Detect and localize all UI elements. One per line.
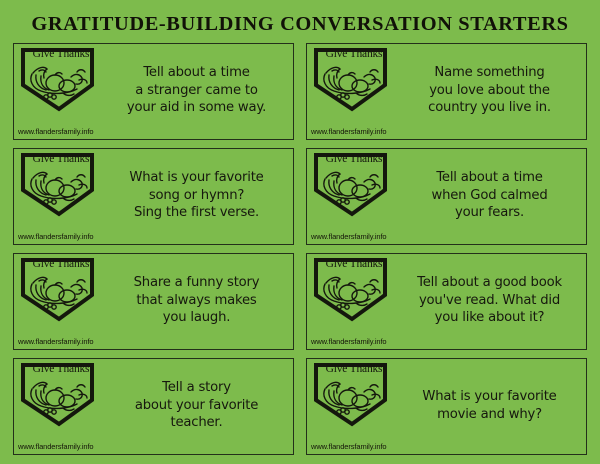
conversation-starter-card[interactable]: Give Thanks www.flandersfamily.info What… [13, 148, 294, 245]
card-prompt-text: Name something you love about the countr… [428, 64, 551, 117]
give-thanks-shield: Give Thanks [312, 47, 396, 113]
site-url: www.flandersfamily.info [311, 128, 397, 136]
card-logo: Give Thanks www.flandersfamily.info [14, 359, 106, 454]
card-body: Name something you love about the countr… [399, 44, 586, 139]
conversation-starter-card[interactable]: Give Thanks www.flandersfamily.info Tell… [306, 148, 587, 245]
site-url: www.flandersfamily.info [18, 128, 104, 136]
conversation-starter-card[interactable]: Give Thanks www.flandersfamily.info What… [306, 358, 587, 455]
site-url: www.flandersfamily.info [18, 233, 104, 241]
card-grid: Give Thanks www.flandersfamily.info Tell… [0, 43, 600, 455]
site-url: www.flandersfamily.info [18, 443, 104, 451]
site-url: www.flandersfamily.info [311, 233, 397, 241]
give-thanks-shield: Give Thanks [19, 257, 103, 323]
card-prompt-text: Tell about a time a stranger came to you… [127, 64, 266, 117]
conversation-starter-card[interactable]: Give Thanks www.flandersfamily.info Tell… [13, 43, 294, 140]
card-body: What is your favorite movie and why? [399, 359, 586, 454]
card-prompt-text: What is your favorite song or hymn? Sing… [129, 169, 263, 222]
give-thanks-shield: Give Thanks [312, 362, 396, 428]
give-thanks-shield: Give Thanks [19, 47, 103, 113]
card-body: Share a funny story that always makes yo… [106, 254, 293, 349]
card-prompt-text: What is your favorite movie and why? [422, 388, 556, 423]
give-thanks-shield: Give Thanks [312, 257, 396, 323]
card-prompt-text: Tell about a time when God calmed your f… [432, 169, 548, 222]
conversation-starter-card[interactable]: Give Thanks www.flandersfamily.info Tell… [306, 253, 587, 350]
card-body: What is your favorite song or hymn? Sing… [106, 149, 293, 244]
conversation-starter-card[interactable]: Give Thanks www.flandersfamily.info Tell… [13, 358, 294, 455]
give-thanks-shield: Give Thanks [19, 362, 103, 428]
card-logo: Give Thanks www.flandersfamily.info [307, 254, 399, 349]
card-body: Tell about a good book you've read. What… [399, 254, 586, 349]
card-prompt-text: Tell a story about your favorite teacher… [135, 379, 258, 432]
card-logo: Give Thanks www.flandersfamily.info [307, 359, 399, 454]
card-body: Tell about a time when God calmed your f… [399, 149, 586, 244]
give-thanks-shield: Give Thanks [19, 152, 103, 218]
conversation-starter-card[interactable]: Give Thanks www.flandersfamily.info Shar… [13, 253, 294, 350]
site-url: www.flandersfamily.info [311, 443, 397, 451]
card-logo: Give Thanks www.flandersfamily.info [14, 44, 106, 139]
card-prompt-text: Tell about a good book you've read. What… [417, 274, 562, 327]
printable-page: GRATITUDE-BUILDING CONVERSATION STARTERS [0, 0, 600, 464]
give-thanks-shield: Give Thanks [312, 152, 396, 218]
site-url: www.flandersfamily.info [311, 338, 397, 346]
card-logo: Give Thanks www.flandersfamily.info [307, 44, 399, 139]
conversation-starter-card[interactable]: Give Thanks www.flandersfamily.info Name… [306, 43, 587, 140]
site-url: www.flandersfamily.info [18, 338, 104, 346]
card-body: Tell about a time a stranger came to you… [106, 44, 293, 139]
card-body: Tell a story about your favorite teacher… [106, 359, 293, 454]
page-title: GRATITUDE-BUILDING CONVERSATION STARTERS [0, 0, 600, 43]
card-logo: Give Thanks www.flandersfamily.info [14, 254, 106, 349]
card-logo: Give Thanks www.flandersfamily.info [14, 149, 106, 244]
card-prompt-text: Share a funny story that always makes yo… [134, 274, 260, 327]
card-logo: Give Thanks www.flandersfamily.info [307, 149, 399, 244]
